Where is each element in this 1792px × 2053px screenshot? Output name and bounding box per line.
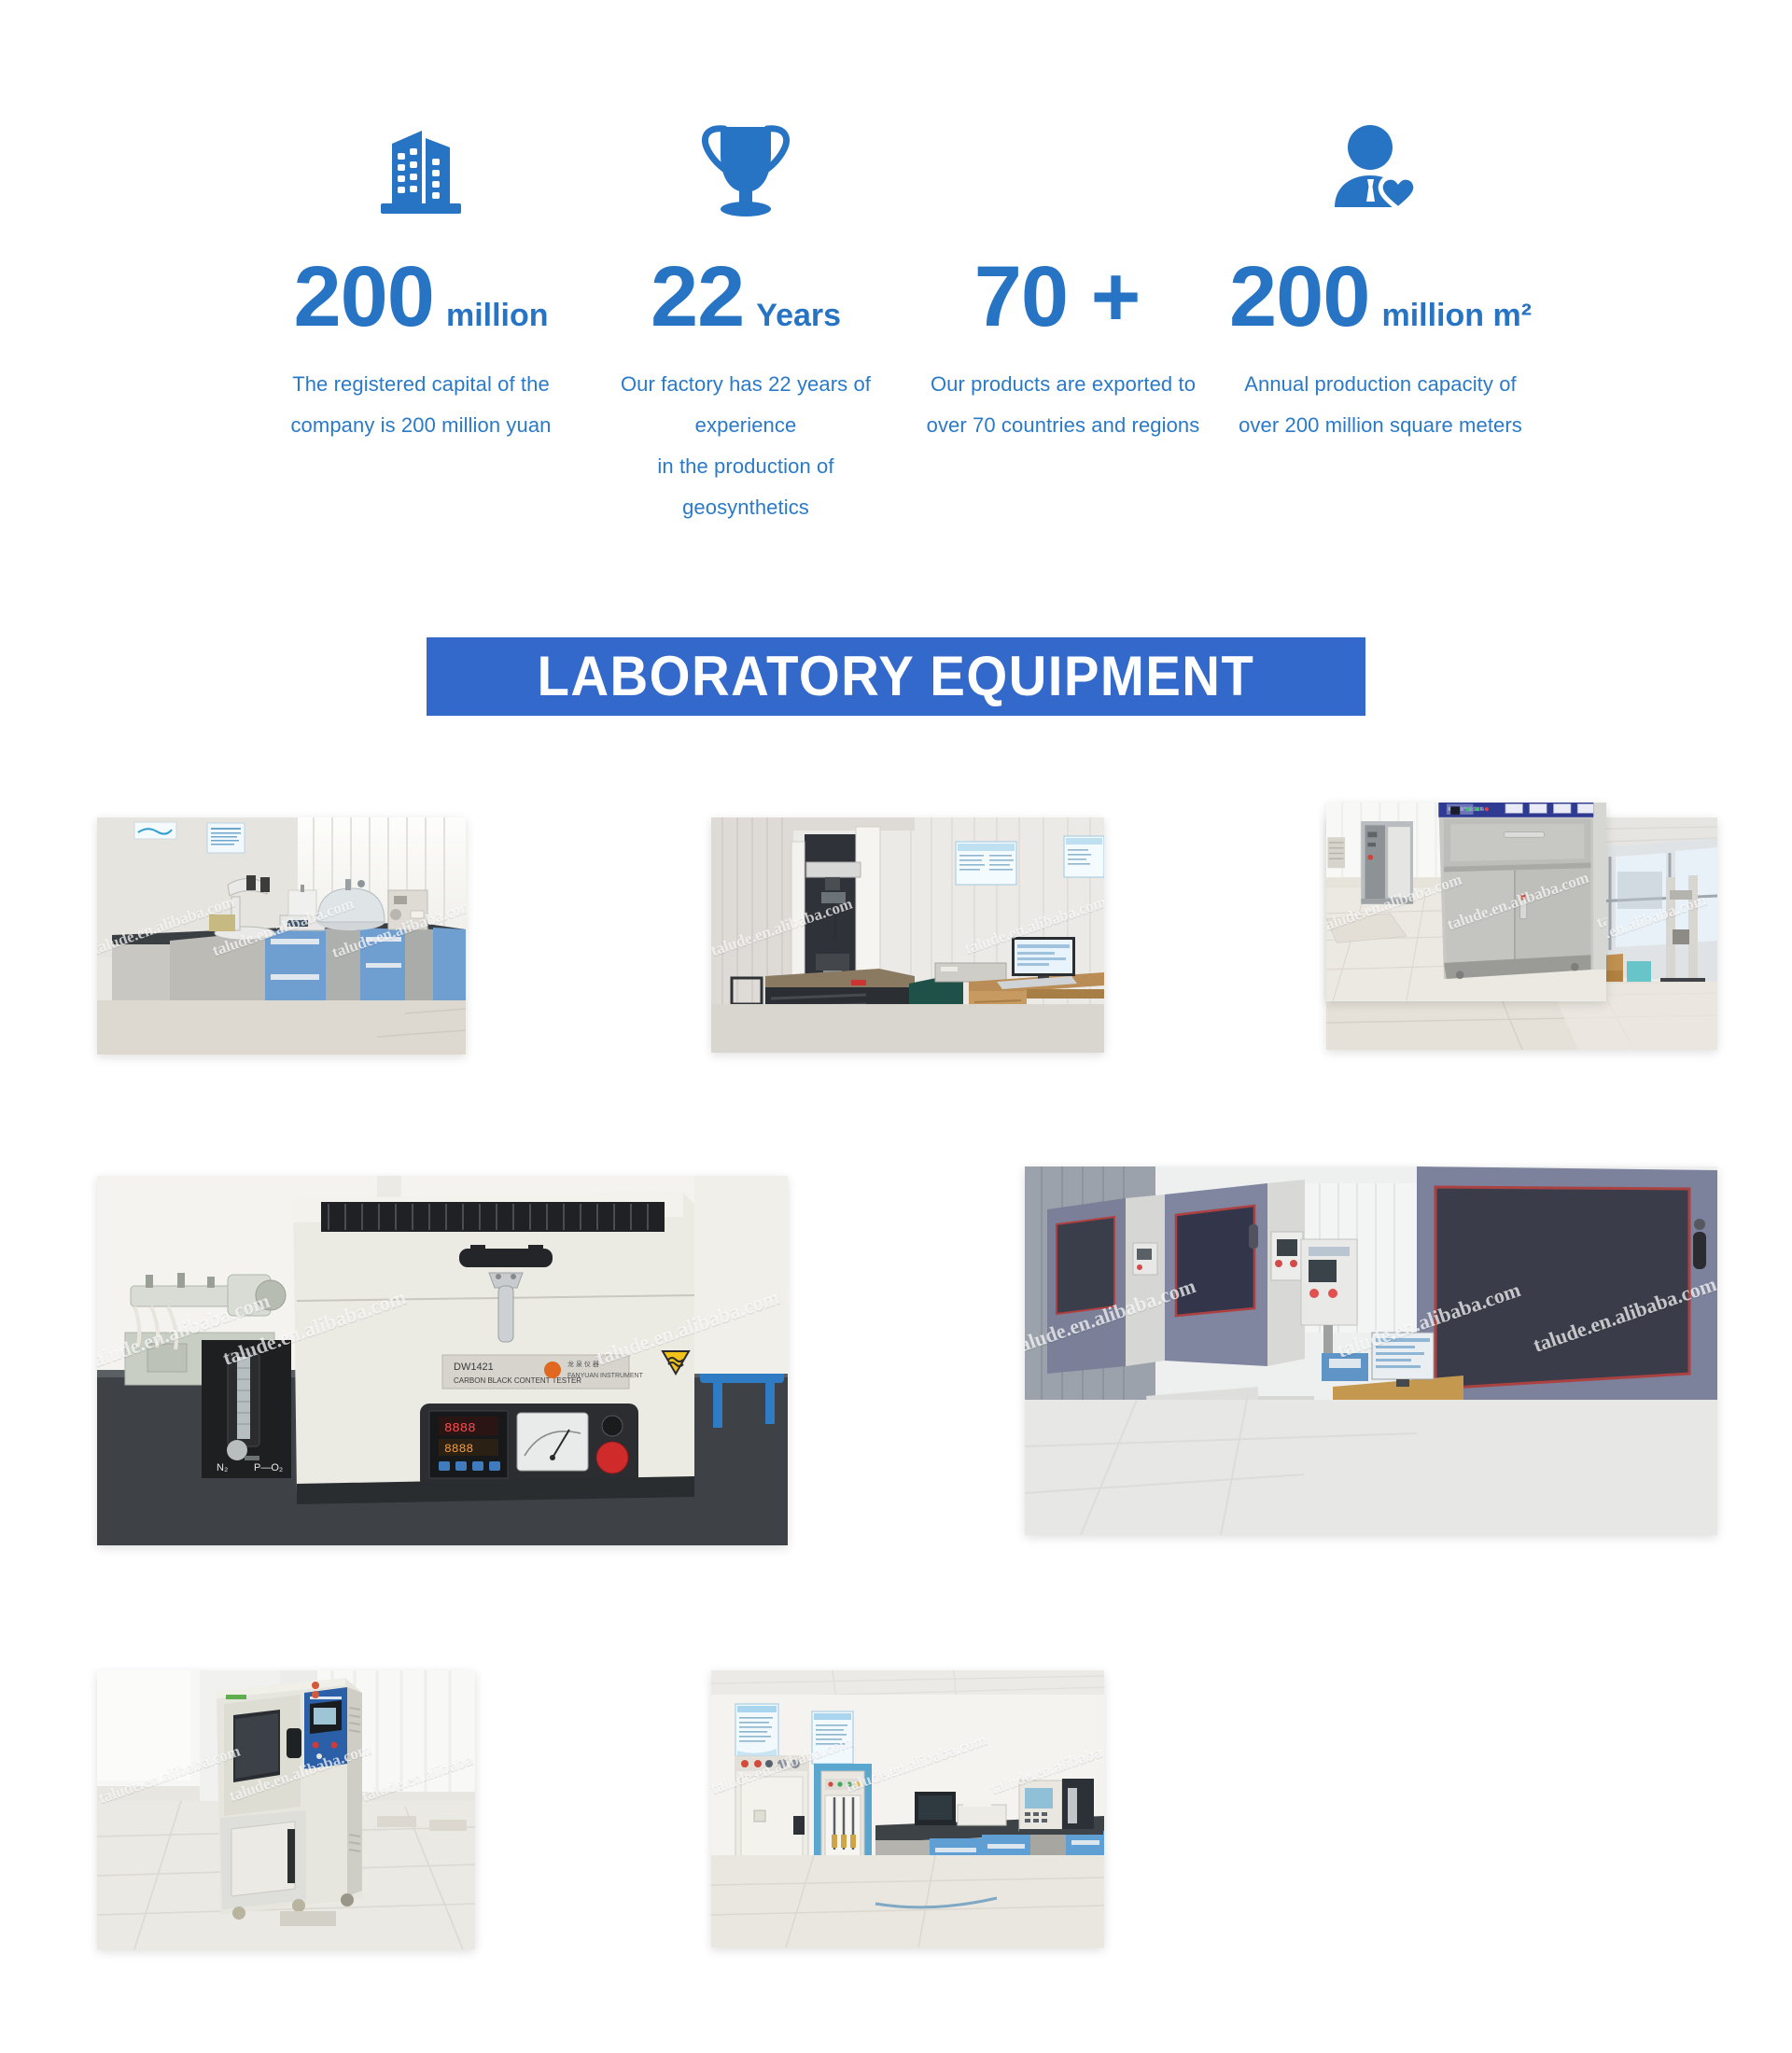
- section-banner: LABORATORY EQUIPMENT: [427, 637, 1365, 716]
- building-icon: [360, 73, 482, 222]
- stat-unit: Years: [756, 298, 841, 334]
- gallery-photo-tensile-testing-machine[interactable]: talude.en.alibaba.com talude.en.alibaba.…: [711, 817, 1104, 1053]
- person-heart-icon: [1320, 73, 1441, 222]
- stat-description-line2: over 200 million square meters: [1236, 405, 1525, 446]
- svg-text:8888: 8888: [444, 1421, 476, 1436]
- trophy-icon: [685, 73, 806, 222]
- section-banner-wrap: LABORATORY EQUIPMENT: [0, 637, 1792, 716]
- stat-description-line1: Our products are exported to: [918, 364, 1208, 405]
- gallery-photo-environmental-test-chambers[interactable]: talude.en.alibaba.com talude.en.alibaba.…: [1025, 1166, 1717, 1535]
- stat-card-registered-capital: 200 million The registered capital of th…: [281, 0, 561, 560]
- stat-figure: 22 Years: [651, 254, 841, 340]
- svg-text:龙 泉 仪 器: 龙 泉 仪 器: [567, 1360, 599, 1368]
- stat-description: The registered capital of the company is…: [276, 364, 566, 446]
- stat-description-line2: over 70 countries and regions: [918, 405, 1208, 446]
- stat-card-export-countries: 70 + Our products are exported to over 7…: [923, 0, 1203, 560]
- stat-number: 200: [293, 254, 434, 340]
- page-root: 200 million The registered capital of th…: [0, 0, 1792, 2053]
- stat-number: 70 +: [974, 254, 1141, 340]
- stat-description: Annual production capacity of over 200 m…: [1236, 364, 1525, 446]
- stat-card-years-experience: 22 Years Our factory has 22 years of exp…: [606, 0, 886, 560]
- stat-description-line1: Annual production capacity of: [1236, 364, 1525, 405]
- gallery-photo-carbon-black-content-tester[interactable]: N₂ P—O₂: [97, 1176, 788, 1545]
- svg-text:FANYUAN INSTRUMENT: FANYUAN INSTRUMENT: [567, 1373, 644, 1379]
- gallery-photo-temperature-humidity-chamber[interactable]: talude.en.alibaba.com talude.en.alibaba.…: [97, 1670, 475, 1949]
- photo-label-model: DW1421: [454, 1362, 494, 1373]
- photo-label-name: CARBON BLACK CONTENT TESTER: [454, 1376, 581, 1385]
- stat-figure: 200 million m²: [1229, 254, 1532, 340]
- stat-number: 200: [1229, 254, 1370, 340]
- photo-label-gas-n2: N₂: [217, 1462, 228, 1473]
- stat-card-annual-capacity: 200 million m² Annual production capacit…: [1240, 0, 1520, 560]
- gallery-photo-lab-bench-microscope[interactable]: talude.en.alibaba.com talude.en.alibaba.…: [97, 817, 466, 1054]
- stat-description: Our products are exported to over 70 cou…: [918, 364, 1208, 446]
- stat-figure: 200 million: [293, 254, 548, 340]
- stat-description-line1: The registered capital of the: [276, 364, 566, 405]
- stat-description-line2: company is 200 million yuan: [276, 405, 566, 446]
- page-title: LABORATORY EQUIPMENT: [538, 649, 1255, 705]
- company-stats-section: 200 million The registered capital of th…: [0, 0, 1792, 560]
- stat-description-line2: in the production of geosynthetics: [601, 446, 890, 528]
- gallery-photo-oven-and-instrument-bench[interactable]: talude.en.alibaba.com talude.en.alibaba.…: [711, 1670, 1104, 1948]
- stat-description: Our factory has 22 years of experience i…: [601, 364, 890, 528]
- stat-unit: million: [446, 298, 549, 334]
- stat-description-line1: Our factory has 22 years of experience: [601, 364, 890, 446]
- gallery-photo-uv-weathering-test-chamber[interactable]: 紫外线耐气候试验箱: [1326, 803, 1606, 1001]
- photo-label-gas-o2: P—O₂: [254, 1462, 283, 1473]
- svg-text:8888: 8888: [444, 1442, 473, 1456]
- stat-number: 22: [651, 254, 744, 340]
- stat-figure: 70 +: [974, 254, 1153, 340]
- stat-unit: million m²: [1381, 298, 1532, 334]
